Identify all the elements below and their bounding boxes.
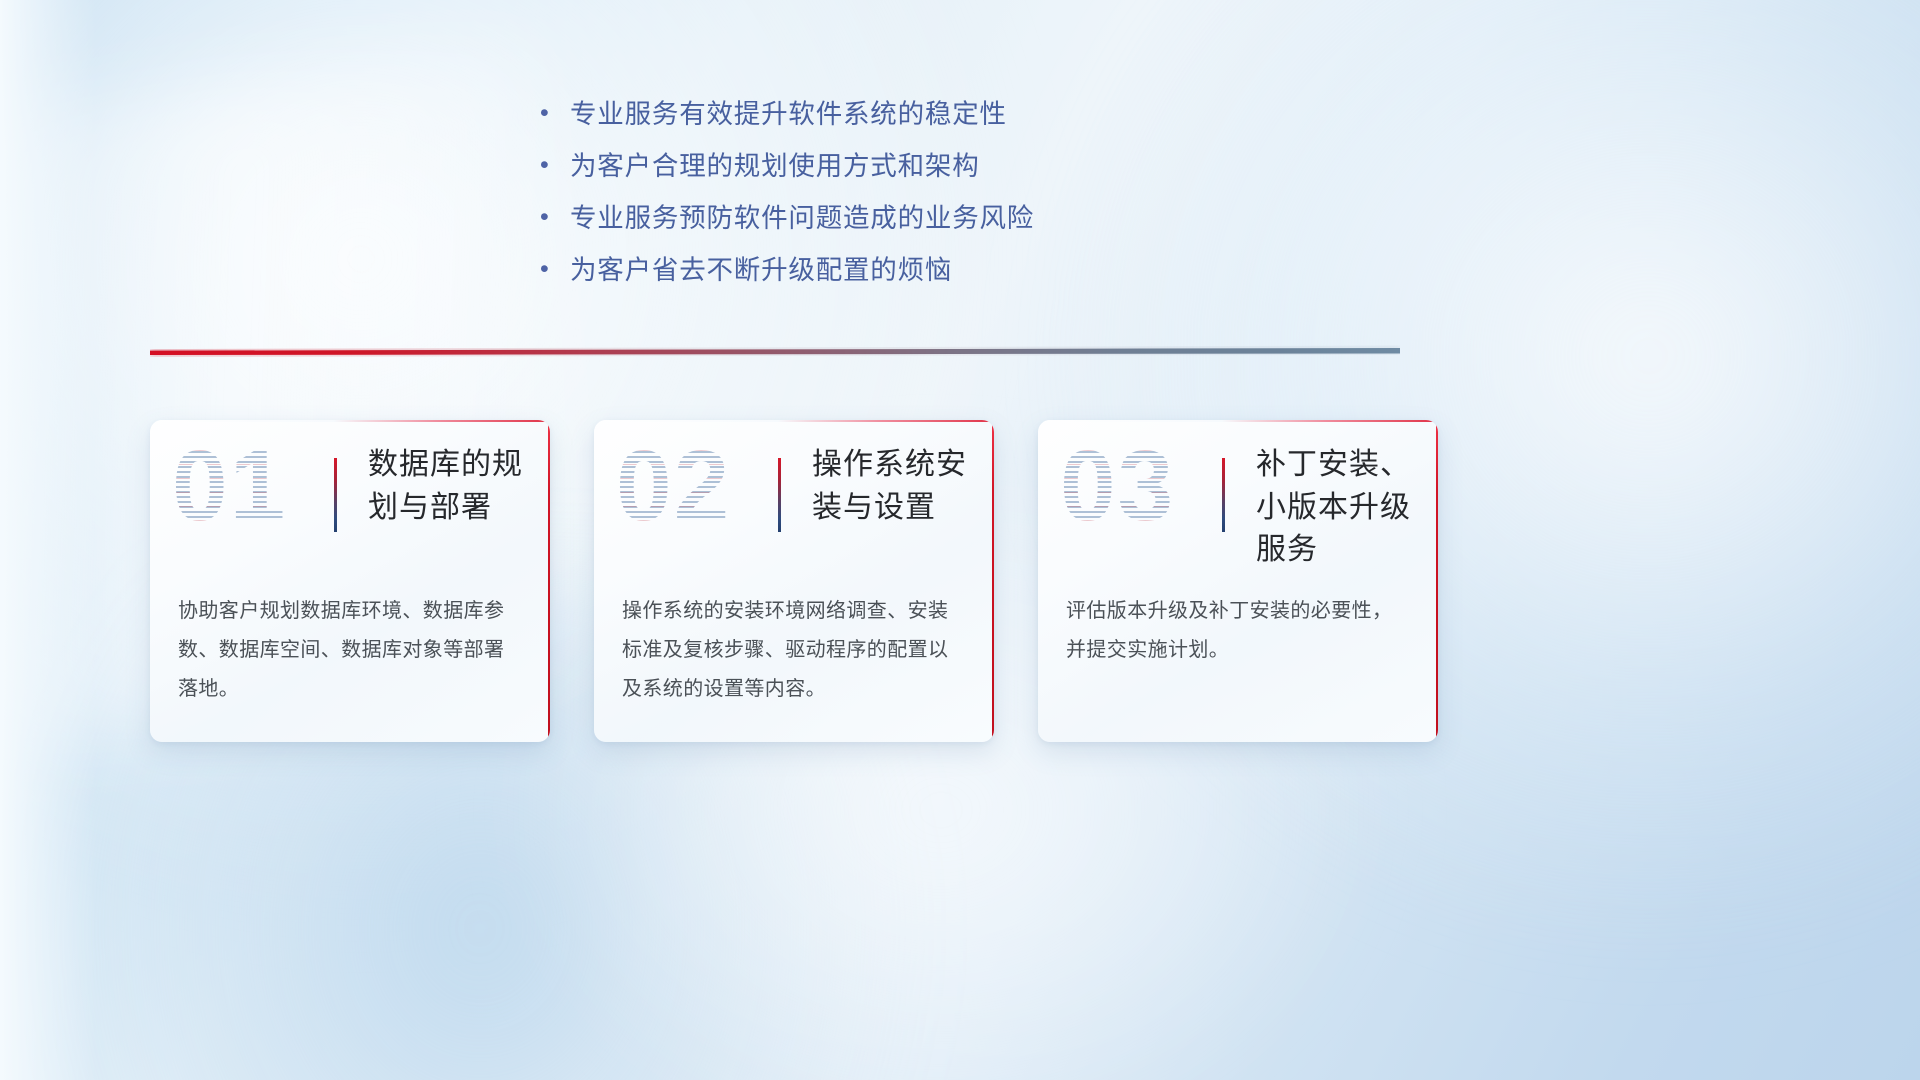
bullet-dot-icon: • — [540, 101, 570, 126]
bullet-text: 为客户省去不断升级配置的烦恼 — [570, 248, 952, 287]
service-card[interactable]: 03 03 补丁安装、小版本升级服务 评估版本升级及补丁安装的必要性，并提交实施… — [1038, 420, 1438, 742]
benefits-bullet-list: • 专业服务有效提升软件系统的稳定性 • 为客户合理的规划使用方式和架构 • 专… — [540, 92, 1360, 300]
title-accent-rule — [1222, 458, 1225, 532]
bullet-dot-icon: • — [540, 205, 570, 230]
card-title: 补丁安装、小版本升级服务 — [1256, 444, 1428, 572]
card-header: 01 01 数据库的规划与部署 — [150, 420, 550, 572]
card-header: 03 03 补丁安装、小版本升级服务 — [1038, 420, 1438, 572]
service-card-group: 01 01 数据库的规划与部署 协助客户规划数据库环境、数据库参数、数据库空间、… — [150, 420, 1438, 742]
card-number-watermark: 01 — [172, 436, 287, 536]
background-left-highlight — [0, 0, 96, 1080]
card-number-watermark: 02 — [616, 436, 731, 536]
title-accent-rule — [778, 458, 781, 532]
card-number-watermark: 03 — [1060, 436, 1175, 536]
card-header: 02 02 操作系统安装与设置 — [594, 420, 994, 572]
bullet-dot-icon: • — [540, 257, 570, 282]
list-item: • 专业服务预防软件问题造成的业务风险 — [540, 196, 1360, 248]
service-card[interactable]: 02 02 操作系统安装与设置 操作系统的安装环境网络调查、安装标准及复核步骤、… — [594, 420, 994, 742]
card-title: 数据库的规划与部署 — [368, 444, 540, 529]
card-title: 操作系统安装与设置 — [812, 444, 984, 529]
list-item: • 为客户合理的规划使用方式和架构 — [540, 144, 1360, 196]
bullet-text: 专业服务预防软件问题造成的业务风险 — [570, 196, 1034, 235]
service-card[interactable]: 01 01 数据库的规划与部署 协助客户规划数据库环境、数据库参数、数据库空间、… — [150, 420, 550, 742]
list-item: • 为客户省去不断升级配置的烦恼 — [540, 248, 1360, 300]
card-description: 协助客户规划数据库环境、数据库参数、数据库空间、数据库对象等部署落地。 — [178, 592, 524, 709]
section-divider — [150, 342, 1400, 362]
bullet-dot-icon: • — [540, 153, 570, 178]
title-accent-rule — [334, 458, 337, 532]
list-item: • 专业服务有效提升软件系统的稳定性 — [540, 92, 1360, 144]
bullet-text: 为客户合理的规划使用方式和架构 — [570, 144, 980, 183]
card-description: 操作系统的安装环境网络调查、安装标准及复核步骤、驱动程序的配置以及系统的设置等内… — [622, 592, 968, 709]
card-description: 评估版本升级及补丁安装的必要性，并提交实施计划。 — [1066, 592, 1412, 670]
bullet-text: 专业服务有效提升软件系统的稳定性 — [570, 92, 1007, 131]
